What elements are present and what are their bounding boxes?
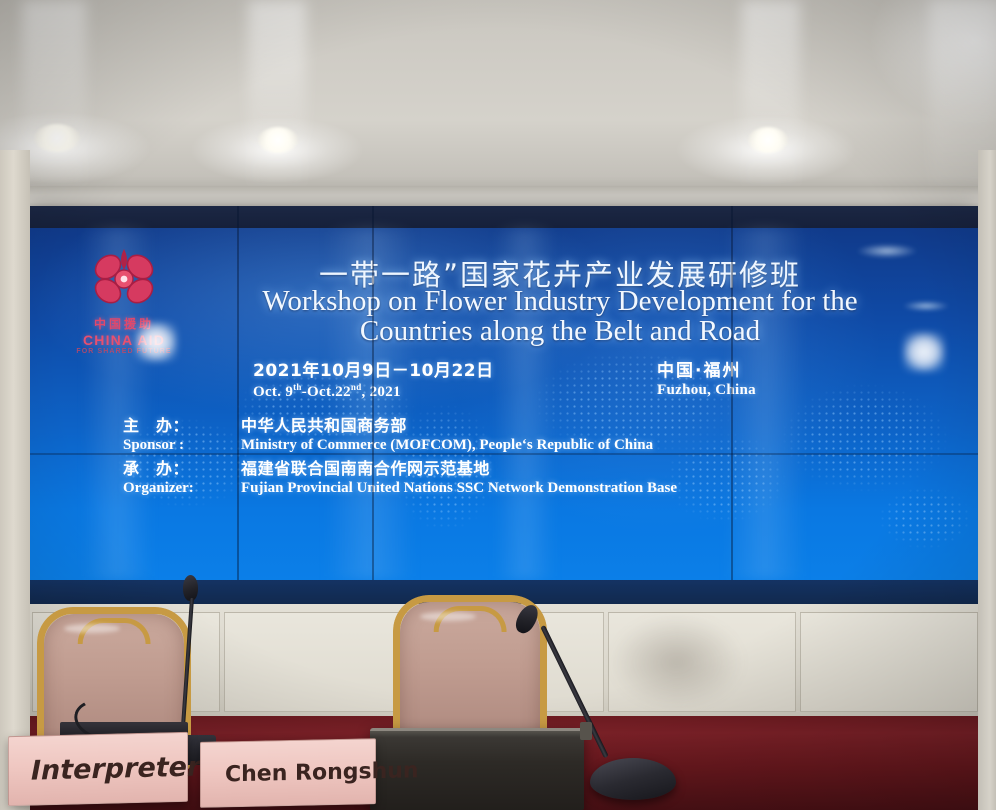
date-en-sup2: nd xyxy=(351,382,362,392)
led-panel-seam-3 xyxy=(731,206,733,604)
laptop-hinge xyxy=(580,722,592,740)
credit-label-organizer-zh: 承 办： xyxy=(123,455,241,479)
credit-row-organizer-zh: 承 办： 福建省联合国南南合作网示范基地 xyxy=(123,455,677,479)
screen-glare-highlight-1 xyxy=(857,244,917,258)
credit-label-sponsor-zh: 主 办： xyxy=(123,412,241,436)
slide-location-zh: 中国·福州 xyxy=(657,356,756,381)
slide-title-en: Workshop on Flower Industry Development … xyxy=(145,286,975,346)
wall-column-left xyxy=(0,150,30,810)
led-panel-seam-1 xyxy=(237,206,239,604)
chair-highlight-left xyxy=(64,624,120,633)
screen-glare-highlight-2 xyxy=(903,301,949,311)
chair-highlight-right xyxy=(420,612,476,621)
slide-location-en: Fuzhou, China xyxy=(657,382,756,399)
ceiling xyxy=(0,0,996,200)
credit-row-organizer-en: Organizer: Fujian Provincial United Nati… xyxy=(123,480,677,497)
slide-content: 中国援助 CHINA AID FOR SHARED FUTURE 一带一路”国家… xyxy=(25,228,980,580)
light-shaft-3 xyxy=(742,0,800,200)
nameplate-interpreter-text: Interpreter xyxy=(9,751,200,787)
wall-column-right xyxy=(978,150,996,810)
credit-label-sponsor-en: Sponsor : xyxy=(123,437,241,454)
conference-room-photo: 中国援助 CHINA AID FOR SHARED FUTURE 一带一路”国家… xyxy=(0,0,996,810)
wainscot-panel-5 xyxy=(800,612,978,712)
credit-value-sponsor-en: Ministry of Commerce (MOFCOM), People‘s … xyxy=(241,437,653,454)
slide-location-block: 中国·福州 Fuzhou, China xyxy=(657,356,756,399)
date-en-mid: -Oct.22 xyxy=(302,384,351,400)
ceiling-downlight-1 xyxy=(34,124,80,152)
nameplate-interpreter: Interpreter xyxy=(8,732,188,806)
nameplate-chen-rongshun-text: Chen Rongshun xyxy=(201,758,419,788)
wainscot-panel-2 xyxy=(224,612,412,712)
credit-row-sponsor-en: Sponsor : Ministry of Commerce (MOFCOM),… xyxy=(123,437,677,454)
led-video-wall: 中国援助 CHINA AID FOR SHARED FUTURE 一带一路”国家… xyxy=(25,206,980,604)
credit-value-sponsor-zh: 中华人民共和国商务部 xyxy=(241,412,407,436)
slide-title-en-line1: Workshop on Flower Industry Development … xyxy=(262,285,857,317)
ceiling-downlight-2 xyxy=(258,127,298,153)
screen-glare-right xyxy=(903,332,945,372)
wainscot-shadow xyxy=(612,616,742,708)
date-en-prefix: Oct. 9 xyxy=(253,384,293,400)
nameplate-chen-rongshun: Chen Rongshun xyxy=(200,738,376,808)
credit-value-organizer-en: Fujian Provincial United Nations SSC Net… xyxy=(241,480,677,497)
light-shaft-2 xyxy=(248,0,306,200)
light-shaft-1 xyxy=(22,0,86,200)
screen-glare-left xyxy=(135,322,177,362)
microphone-base-right xyxy=(590,758,676,800)
ceiling-downlight-3 xyxy=(748,127,788,153)
led-panel-seam-2 xyxy=(372,206,374,604)
led-wall-top-bezel xyxy=(25,206,980,228)
credit-row-sponsor-zh: 主 办： 中华人民共和国商务部 xyxy=(123,412,677,436)
led-panel-seam-horizontal xyxy=(25,453,980,455)
slide-title-en-line2: Countries along the Belt and Road xyxy=(145,316,975,346)
date-en-sup1: th xyxy=(293,382,302,392)
credit-label-organizer-en: Organizer: xyxy=(123,480,241,497)
date-en-suffix: , 2021 xyxy=(362,384,401,400)
credit-value-organizer-zh: 福建省联合国南南合作网示范基地 xyxy=(241,455,490,479)
